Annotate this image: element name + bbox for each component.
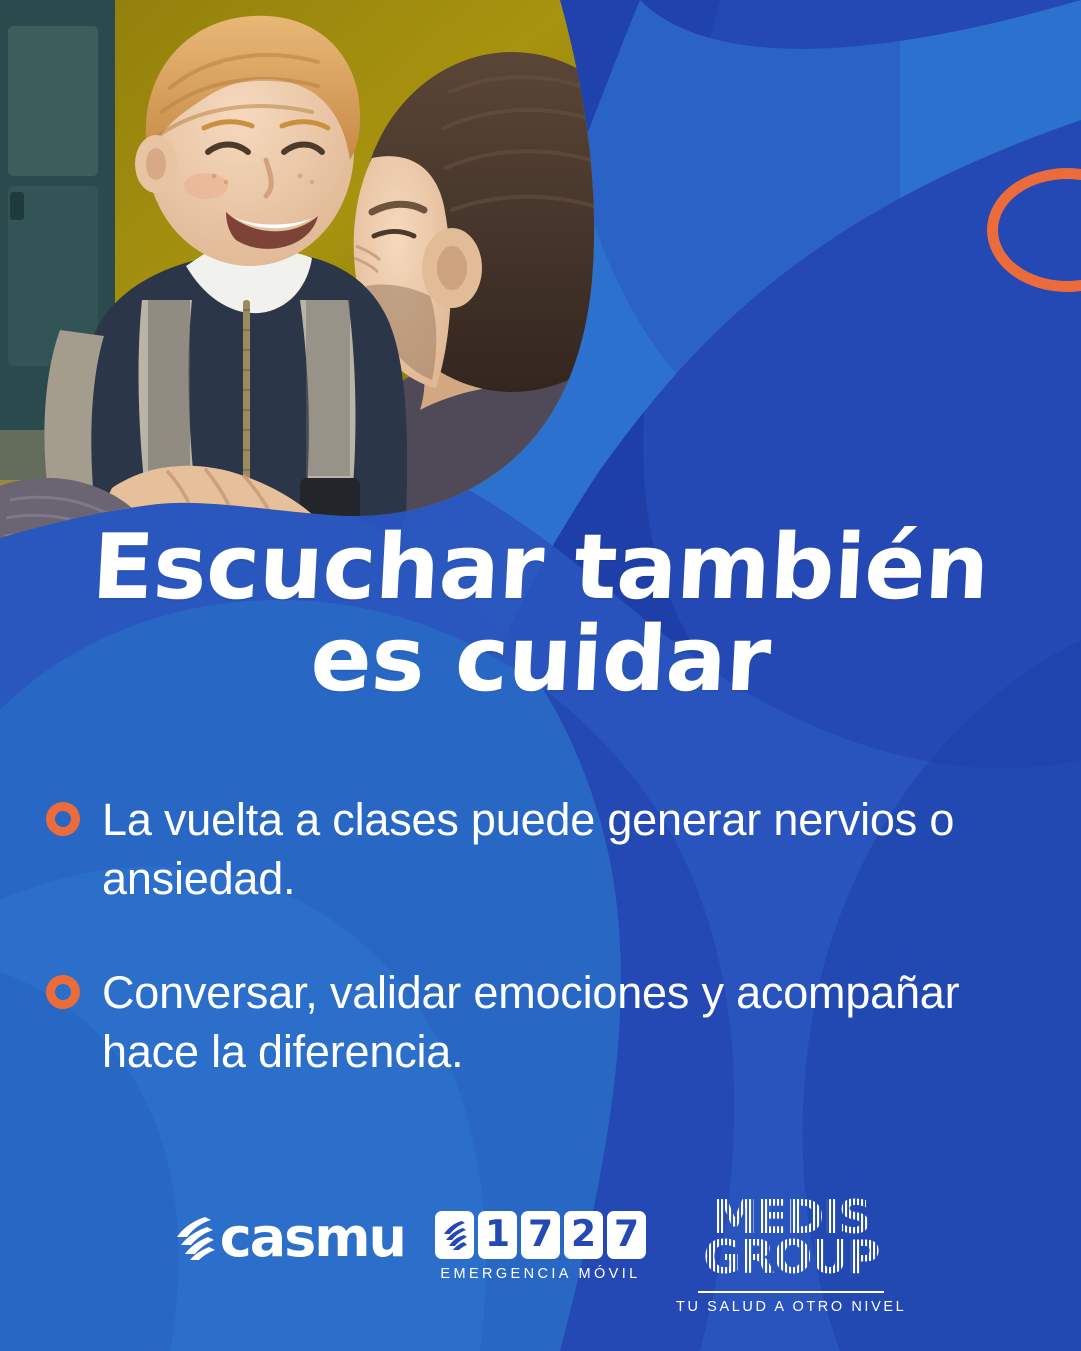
footer-logos: casmu 1 <box>0 1189 1081 1315</box>
list-item: La vuelta a clases puede generar nervios… <box>46 790 1021 909</box>
digit-value: 1 <box>485 1217 510 1254</box>
digit-value: 7 <box>528 1217 553 1254</box>
medis-group-wordmark: MEDIS GROUP <box>693 1189 889 1285</box>
emergencia-caption: EMERGENCIA MÓVIL <box>440 1266 640 1282</box>
digit-value: 2 <box>571 1217 596 1254</box>
bullet-text: La vuelta a clases puede generar nervios… <box>102 790 1021 909</box>
orange-ring-bullet-icon <box>42 798 83 839</box>
emergencia-tile-mark <box>435 1211 474 1259</box>
headline-line-1: Escuchar también <box>58 524 1024 612</box>
casmu-logo: casmu <box>175 1211 405 1265</box>
digit-value: 7 <box>614 1217 639 1254</box>
emergencia-tile-digit: 2 <box>564 1211 603 1259</box>
list-item: Conversar, validar emociones y acompañar… <box>46 963 1021 1082</box>
hero-photo <box>0 0 640 560</box>
emergencia-tile-digit: 1 <box>478 1211 517 1259</box>
page-title: Escuchar también es cuidar <box>0 524 1081 704</box>
hero-photo-illustration <box>0 0 640 560</box>
casmu-stripes-icon-small <box>442 1219 468 1251</box>
medis-divider <box>698 1291 884 1293</box>
emergencia-tile-digit: 7 <box>607 1211 646 1259</box>
emergencia-tile-digit: 7 <box>521 1211 560 1259</box>
medis-group-logo: MEDIS GROUP TU SALUD A OTRO NIVEL <box>676 1189 906 1315</box>
emergencia-tiles: 1 7 2 7 <box>435 1211 646 1259</box>
emergencia-movil-logo: 1 7 2 7 EMERGENCIA MÓVIL <box>435 1211 646 1282</box>
bullet-text: Conversar, validar emociones y acompañar… <box>102 963 1021 1082</box>
headline-line-2: es cuidar <box>58 616 1024 704</box>
orange-ring-bullet-icon <box>42 971 83 1012</box>
casmu-wordmark: casmu <box>220 1211 405 1265</box>
medis-tagline: TU SALUD A OTRO NIVEL <box>676 1299 906 1315</box>
bullet-list: La vuelta a clases puede generar nervios… <box>46 790 1021 1136</box>
poster-canvas: Escuchar también es cuidar La vuelta a c… <box>0 0 1081 1351</box>
casmu-stripes-icon <box>175 1215 215 1261</box>
